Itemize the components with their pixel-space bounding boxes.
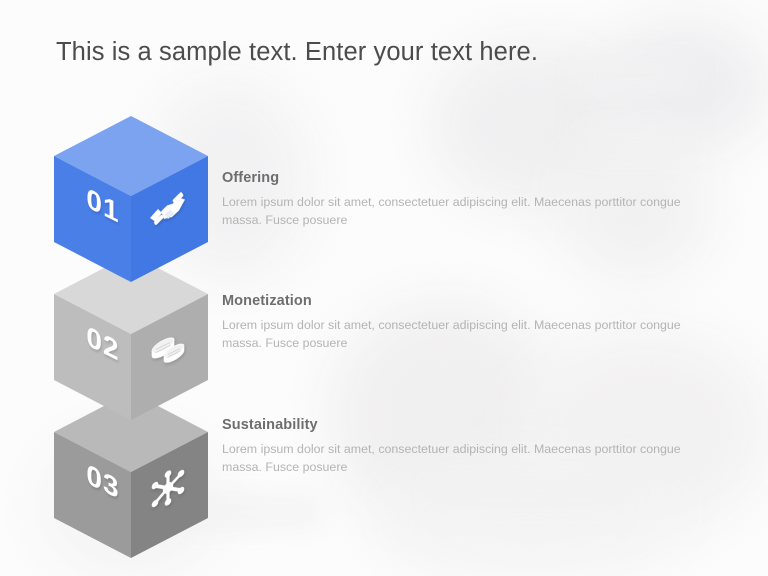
- cube-stack: 01 02: [50, 112, 230, 532]
- slide-canvas: This is a sample text. Enter your text h…: [0, 0, 768, 576]
- block-body-sustainability: Lorem ipsum dolor sit amet, consectetuer…: [222, 440, 714, 477]
- block-heading-monetization: Monetization: [222, 293, 722, 309]
- text-block-3: Sustainability Lorem ipsum dolor sit ame…: [222, 417, 722, 477]
- page-title: This is a sample text. Enter your text h…: [56, 38, 538, 67]
- text-block-1: Offering Lorem ipsum dolor sit amet, con…: [222, 170, 722, 230]
- block-heading-sustainability: Sustainability: [222, 417, 722, 433]
- cube-item-1[interactable]: 01: [50, 112, 212, 298]
- block-body-offering: Lorem ipsum dolor sit amet, consectetuer…: [222, 193, 714, 230]
- text-block-2: Monetization Lorem ipsum dolor sit amet,…: [222, 293, 722, 353]
- block-body-monetization: Lorem ipsum dolor sit amet, consectetuer…: [222, 316, 714, 353]
- block-heading-offering: Offering: [222, 170, 722, 186]
